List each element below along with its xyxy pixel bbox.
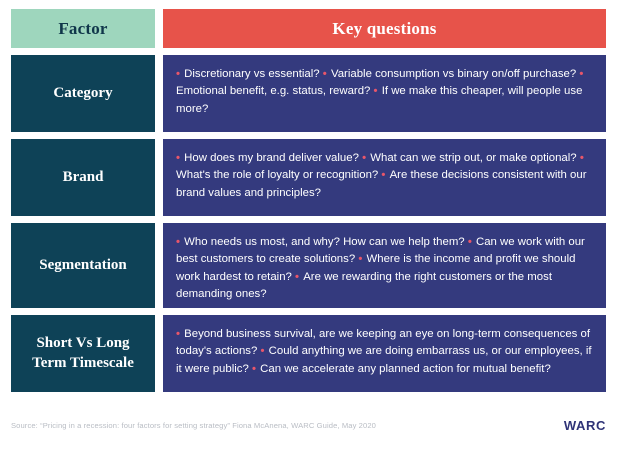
factor-cell-brand: Brand xyxy=(11,139,155,216)
bullet-marker: • xyxy=(252,363,260,375)
header-label-key-questions: Key questions xyxy=(332,19,436,39)
bullet-marker: • xyxy=(176,152,184,164)
source-citation: Source: “Pricing in a recession: four fa… xyxy=(11,421,376,430)
bullet-marker: • xyxy=(580,152,585,164)
factor-cell-short-vs-long-term-timescale: Short Vs Long Term Timescale xyxy=(11,315,155,392)
factor-label: Segmentation xyxy=(39,256,127,275)
questions-cell-brand: • How does my brand deliver value? • Wha… xyxy=(163,139,606,216)
bullet-marker: • xyxy=(295,271,303,283)
factors-table: Factor Key questions Category • Discreti… xyxy=(11,9,606,392)
factor-label: Category xyxy=(53,84,112,103)
question-text: How does my brand deliver value? xyxy=(184,152,362,164)
footer: Source: “Pricing in a recession: four fa… xyxy=(11,418,606,433)
bullet-marker: • xyxy=(176,68,184,80)
factor-cell-category: Category xyxy=(11,55,155,132)
bullet-marker: • xyxy=(381,169,389,181)
bullet-marker: • xyxy=(374,85,382,97)
factor-label: Short Vs Long Term Timescale xyxy=(19,334,147,372)
question-text: What's the role of loyalty or recognitio… xyxy=(176,169,381,181)
table-row: Brand • How does my brand deliver value?… xyxy=(11,139,606,216)
question-text: Emotional benefit, e.g. status, reward? xyxy=(176,85,374,97)
question-text: What can we strip out, or make optional? xyxy=(370,152,580,164)
questions-cell-category: • Discretionary vs essential? • Variable… xyxy=(163,55,606,132)
bullet-marker: • xyxy=(468,236,476,248)
table-header-row: Factor Key questions xyxy=(11,9,606,48)
bullet-marker: • xyxy=(176,328,184,340)
header-cell-factor: Factor xyxy=(11,9,155,48)
table-row: Category • Discretionary vs essential? •… xyxy=(11,55,606,132)
bullet-marker: • xyxy=(323,68,331,80)
warc-logo: WARC xyxy=(564,418,606,433)
questions-list: • Who needs us most, and why? How can we… xyxy=(176,234,592,303)
questions-list: • Beyond business survival, are we keepi… xyxy=(176,326,592,378)
questions-list: • How does my brand deliver value? • Wha… xyxy=(176,150,592,202)
bullet-marker: • xyxy=(362,152,370,164)
bullet-marker: • xyxy=(176,236,184,248)
factor-cell-segmentation: Segmentation xyxy=(11,223,155,308)
questions-cell-segmentation: • Who needs us most, and why? How can we… xyxy=(163,223,606,308)
bullet-marker: • xyxy=(358,253,366,265)
questions-cell-short-vs-long-term-timescale: • Beyond business survival, are we keepi… xyxy=(163,315,606,392)
question-text: Who needs us most, and why? How can we h… xyxy=(184,236,468,248)
table-row: Short Vs Long Term Timescale • Beyond bu… xyxy=(11,315,606,392)
slide-canvas: Factor Key questions Category • Discreti… xyxy=(0,0,625,450)
question-text: Variable consumption vs binary on/off pu… xyxy=(331,68,579,80)
table-row: Segmentation • Who needs us most, and wh… xyxy=(11,223,606,308)
question-text: Discretionary vs essential? xyxy=(184,68,323,80)
header-label-factor: Factor xyxy=(58,19,107,39)
questions-list: • Discretionary vs essential? • Variable… xyxy=(176,66,592,118)
factor-label: Brand xyxy=(63,168,104,187)
bullet-marker: • xyxy=(579,68,584,80)
bullet-marker: • xyxy=(261,345,269,357)
question-text: Can we accelerate any planned action for… xyxy=(260,363,551,375)
header-cell-key-questions: Key questions xyxy=(163,9,606,48)
